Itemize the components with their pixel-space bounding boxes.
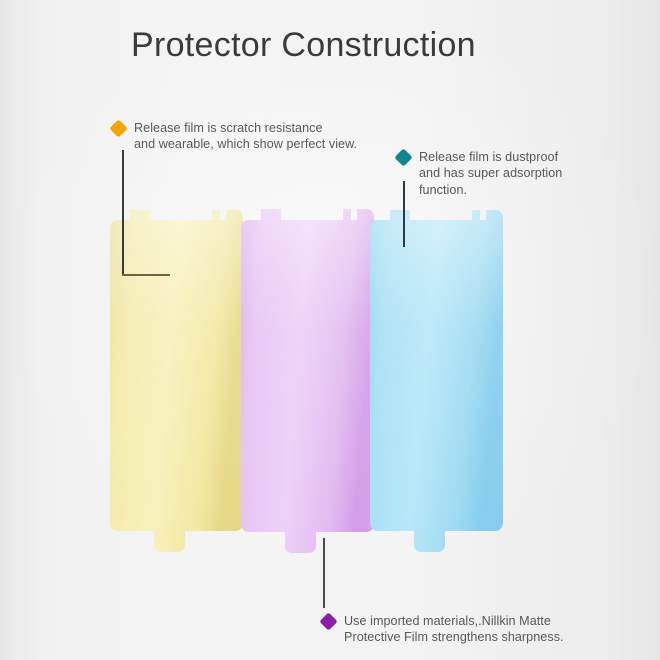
callout-release-film-dustproof: Release film is dustproof and has super … (397, 149, 597, 198)
film-release-blue (364, 200, 509, 556)
callout-release-film-scratch: Release film is scratch resistance and w… (112, 120, 402, 153)
callout-text-dustproof: Release film is dustproof and has super … (419, 149, 562, 198)
diamond-bullet-icon (394, 148, 412, 166)
film-protective-pink (234, 198, 380, 558)
callout-imported-materials: Use imported materials,.Nillkin Matte Pr… (322, 613, 622, 646)
callout-text-materials: Use imported materials,.Nillkin Matte Pr… (344, 613, 564, 646)
diamond-bullet-icon (109, 119, 127, 137)
diamond-bullet-icon (319, 612, 337, 630)
callout-text-scratch: Release film is scratch resistance and w… (134, 120, 357, 153)
protector-construction-diagram: Protector Construction (0, 0, 660, 660)
leader-line-scratch (120, 150, 180, 285)
leader-line-materials (322, 538, 328, 612)
page-title: Protector Construction (131, 26, 476, 65)
